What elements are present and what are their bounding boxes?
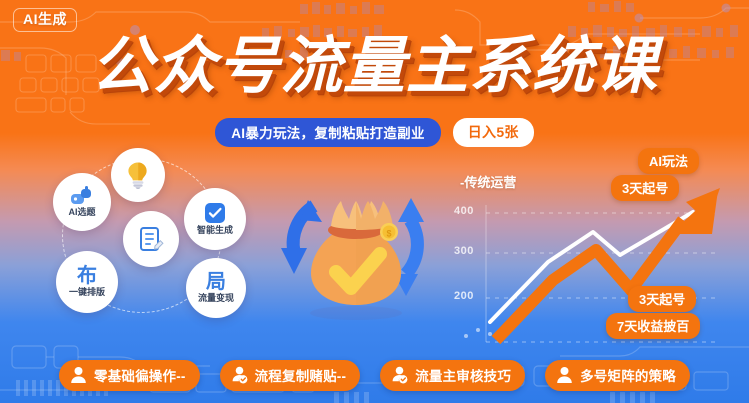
- feature-button-zero-basis[interactable]: 零基础徧操作--: [59, 360, 200, 391]
- diagram-node-smart-generate: 智能生成: [184, 188, 246, 250]
- ai-generated-badge: AI生成: [13, 8, 77, 32]
- ai-topic-icon: [70, 186, 94, 206]
- workflow-diagram: AI选题 智能生成 布 一键排版 局 流量变现: [38, 148, 268, 323]
- feature-label: 多号矩阵的策略: [580, 365, 676, 385]
- feature-button-audit-tips[interactable]: 流量主审核技巧: [380, 360, 525, 391]
- lightbulb-icon: [125, 161, 151, 189]
- person-icon: [556, 366, 573, 384]
- document-edit-icon: [136, 224, 166, 254]
- chart-badge-3day-top: 3天起号: [611, 175, 679, 201]
- page-title: 公众号流量主系统课: [0, 36, 749, 98]
- diagram-node-glyph: 布: [77, 266, 97, 286]
- money-bag-illustration: $: [276, 178, 436, 328]
- person-check-icon: [391, 366, 408, 384]
- feature-label: 流程复制赌贴--: [255, 365, 347, 385]
- chart-badge-ai-method: AI玩法: [638, 148, 699, 174]
- subtitle-primary-badge: AI暴力玩法，复制粘贴打造副业: [215, 118, 441, 147]
- growth-chart: -传统运营 400 300 200: [448, 150, 749, 350]
- feature-button-copy-paste[interactable]: 流程复制赌贴--: [220, 360, 361, 391]
- person-icon: [70, 366, 87, 384]
- diagram-node-label: AI选题: [68, 208, 95, 217]
- promo-banner: AI生成 公众号流量主系统课 AI暴力玩法，复制粘贴打造副业 日入5张: [0, 0, 749, 403]
- diagram-node-layout: 布 一键排版: [56, 251, 118, 313]
- subtitle-row: AI暴力玩法，复制粘贴打造副业 日入5张: [0, 118, 749, 147]
- chart-badge-3day-bottom: 3天起号: [628, 286, 696, 312]
- diagram-node-monetize: 局 流量变现: [186, 258, 246, 318]
- feature-button-multi-account[interactable]: 多号矩阵的策略: [545, 360, 690, 391]
- diagram-node-document: [123, 211, 179, 267]
- diagram-node-lightbulb: [111, 148, 165, 202]
- diagram-node-ai-topic: AI选题: [53, 173, 111, 231]
- diagram-node-glyph: 局: [206, 272, 226, 292]
- subtitle-secondary-badge: 日入5张: [453, 118, 534, 147]
- chart-plot-area: [448, 150, 749, 350]
- person-check-icon: [231, 366, 248, 384]
- chart-badge-7day-income: 7天收益披百: [606, 313, 700, 339]
- diagram-node-label: 流量变现: [198, 294, 234, 303]
- diagram-node-label: 一键排版: [69, 288, 105, 297]
- feature-label: 零基础徧操作--: [94, 365, 186, 385]
- feature-button-row: 零基础徧操作-- 流程复制赌贴--: [0, 360, 749, 391]
- chart-scatter-dots: [464, 328, 492, 338]
- feature-label: 流量主审核技巧: [415, 365, 511, 385]
- svg-text:$: $: [386, 229, 391, 239]
- diagram-node-label: 智能生成: [197, 226, 233, 235]
- smart-generate-icon: [204, 202, 226, 224]
